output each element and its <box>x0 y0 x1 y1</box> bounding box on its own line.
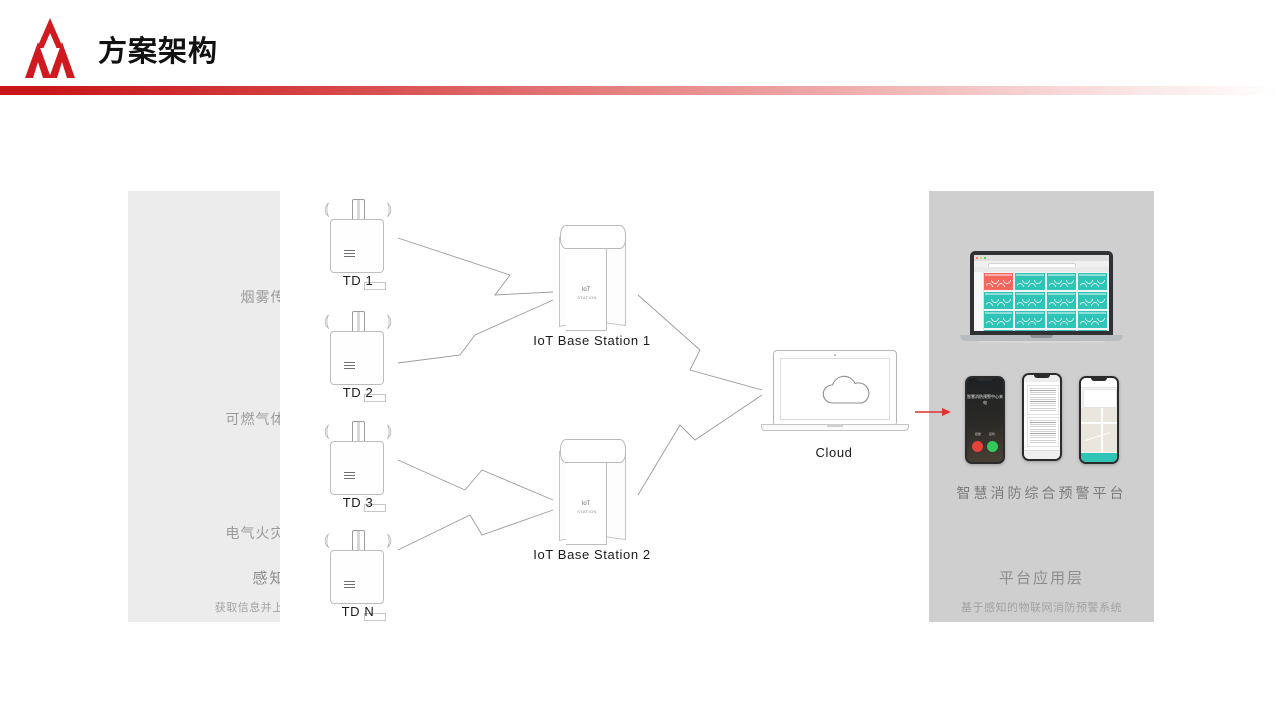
device-body <box>330 550 384 604</box>
chip-icon <box>344 472 355 481</box>
message-bubble <box>1027 385 1059 415</box>
call-screen: 智慧消防预警中心来电 拒绝 接听 <box>967 378 1003 462</box>
flow-arrow-icon <box>915 407 951 417</box>
radio-wave-left-icon: ⦅ <box>324 532 330 549</box>
dashboard-card-grid <box>984 273 1107 331</box>
message-toolbar[interactable] <box>1024 450 1060 459</box>
waveform-icon <box>1049 280 1074 287</box>
terminal-device-3[interactable]: ⦅ ⦆ <box>322 417 394 493</box>
dashboard-card[interactable] <box>1015 292 1044 309</box>
bs-top-face <box>560 439 626 463</box>
dashboard-card[interactable] <box>984 330 1013 331</box>
chip-icon <box>344 581 355 590</box>
dashboard-card[interactable] <box>1015 311 1044 328</box>
iot-base-station-2-label: IoT Base Station 2 <box>516 547 668 562</box>
radio-wave-left-icon: ⦅ <box>324 423 330 440</box>
dashboard-card-alarm[interactable] <box>984 273 1013 290</box>
terminal-device-2-label: TD 2 <box>322 385 394 400</box>
dashboard-card[interactable] <box>984 292 1013 309</box>
accept-label: 接听 <box>986 432 998 436</box>
waveform-icon <box>1017 299 1042 306</box>
bs-right-face <box>604 451 626 540</box>
waveform-icon <box>1017 318 1042 325</box>
terminal-device-n[interactable]: ⦅ ⦆ <box>322 526 394 602</box>
radio-wave-right-icon: ⦆ <box>386 532 392 549</box>
device-body <box>330 441 384 495</box>
phone-map-location[interactable] <box>1079 376 1119 464</box>
radio-wave-right-icon: ⦆ <box>386 201 392 218</box>
dashboard-card[interactable] <box>1047 311 1076 328</box>
terminal-device-n-label: TD N <box>322 604 394 619</box>
page-title: 方案架构 <box>98 28 218 70</box>
radio-wave-left-icon: ⦅ <box>324 313 330 330</box>
chip-icon <box>344 362 355 371</box>
webcam-icon <box>834 354 836 356</box>
sensor-label-gas: 可燃气体传感器 <box>128 409 280 429</box>
cloud-icon <box>819 373 875 405</box>
dashboard-card[interactable] <box>1047 273 1076 290</box>
iot-base-station-1-label: IoT Base Station 1 <box>516 333 668 348</box>
map-screen <box>1081 378 1117 462</box>
platform-layer-subtitle: 基于感知的物联网消防预警系统 <box>929 599 1154 615</box>
bs-brand-mark: IoT <box>574 287 598 293</box>
bs-right-face <box>604 237 626 326</box>
sense-layer-subtitle: 获取信息并上传至物联网 <box>128 599 280 615</box>
iot-base-station-2[interactable]: IoT STATION <box>554 439 630 545</box>
phone-incoming-call[interactable]: 智慧消防预警中心来电 拒绝 接听 <box>965 376 1005 464</box>
waveform-icon <box>1080 280 1105 287</box>
bs-top-face <box>560 225 626 249</box>
platform-laptop[interactable] <box>960 251 1123 349</box>
dashboard-card[interactable] <box>1015 273 1044 290</box>
laptop-bezel <box>970 251 1113 335</box>
waveform-icon <box>986 318 1011 325</box>
iot-base-station-1[interactable]: IoT STATION <box>554 225 630 331</box>
header-accent-bar <box>0 86 1280 95</box>
chip-icon <box>344 250 355 259</box>
sense-layer-panel: 烟雾传感器 可燃气体传感器 <box>128 191 280 622</box>
sense-layer-title: 感知层 <box>128 567 280 588</box>
terminal-device-2[interactable]: ⦅ ⦆ <box>322 307 394 383</box>
phone-notch <box>1091 378 1107 381</box>
platform-phones: 智慧消防预警中心来电 拒绝 接听 <box>965 373 1120 468</box>
waveform-icon <box>1017 280 1042 287</box>
laptop-foot <box>978 341 1105 343</box>
waveform-icon <box>1080 318 1105 325</box>
message-screen <box>1024 375 1060 459</box>
sensor-label-smoke: 烟雾传感器 <box>128 287 280 307</box>
browser-toolbar <box>974 267 1109 272</box>
bs-brand-sub: STATION <box>568 509 606 514</box>
map-view[interactable] <box>1081 408 1117 452</box>
laptop-notch <box>827 424 843 427</box>
architecture-diagram: 烟雾传感器 可燃气体传感器 <box>0 95 1280 720</box>
radio-wave-left-icon: ⦅ <box>324 201 330 218</box>
phone-notch <box>977 378 993 381</box>
waveform-icon <box>1080 299 1105 306</box>
terminal-device-1[interactable]: ⦅ ⦆ <box>322 195 394 271</box>
sensor-label-electrical: 电气火灾传感器 <box>128 523 280 543</box>
platform-caption: 智慧消防综合预警平台 <box>929 483 1154 503</box>
page-header: 方案架构 <box>0 0 1280 90</box>
device-body <box>330 219 384 273</box>
radio-wave-right-icon: ⦆ <box>386 313 392 330</box>
reject-label: 拒绝 <box>972 432 984 436</box>
terminal-device-1-label: TD 1 <box>322 273 394 288</box>
dashboard-card[interactable] <box>1078 273 1107 290</box>
message-bubble <box>1027 417 1059 447</box>
reject-call-button[interactable] <box>972 441 983 452</box>
laptop-screen <box>773 350 897 426</box>
platform-layer-title: 平台应用层 <box>929 567 1154 588</box>
phone-notch <box>1034 375 1050 378</box>
phone-message-list[interactable] <box>1022 373 1062 461</box>
waveform-icon <box>986 299 1011 306</box>
dashboard-card[interactable] <box>1078 292 1107 309</box>
waveform-icon <box>986 280 1011 287</box>
dashboard-card[interactable] <box>1047 330 1076 331</box>
radio-wave-right-icon: ⦆ <box>386 423 392 440</box>
dashboard-card[interactable] <box>1047 292 1076 309</box>
caller-name: 智慧消防预警中心来电 <box>967 394 1003 406</box>
waveform-icon <box>1049 299 1074 306</box>
cloud-label: Cloud <box>761 445 907 460</box>
dashboard-card[interactable] <box>1078 330 1107 331</box>
bs-front-face <box>566 241 607 331</box>
cloud-node[interactable] <box>761 350 907 438</box>
waveform-icon <box>1049 318 1074 325</box>
accept-call-button[interactable] <box>987 441 998 452</box>
triple-peak-logo <box>18 14 82 78</box>
bs-brand-mark: IoT <box>574 501 598 507</box>
platform-layer-panel: 智慧消防预警中心来电 拒绝 接听 <box>929 191 1154 622</box>
device-body <box>330 331 384 385</box>
terminal-device-3-label: TD 3 <box>322 495 394 510</box>
bs-brand-sub: STATION <box>568 295 606 300</box>
dashboard-card[interactable] <box>1078 311 1107 328</box>
dashboard-card[interactable] <box>1015 330 1044 331</box>
dashboard-sidebar[interactable] <box>974 272 984 331</box>
map-action-bar[interactable] <box>1081 453 1117 462</box>
dashboard-screen <box>974 255 1109 331</box>
bs-front-face <box>566 455 607 545</box>
dashboard-card[interactable] <box>984 311 1013 328</box>
alarm-info-card <box>1083 389 1117 408</box>
